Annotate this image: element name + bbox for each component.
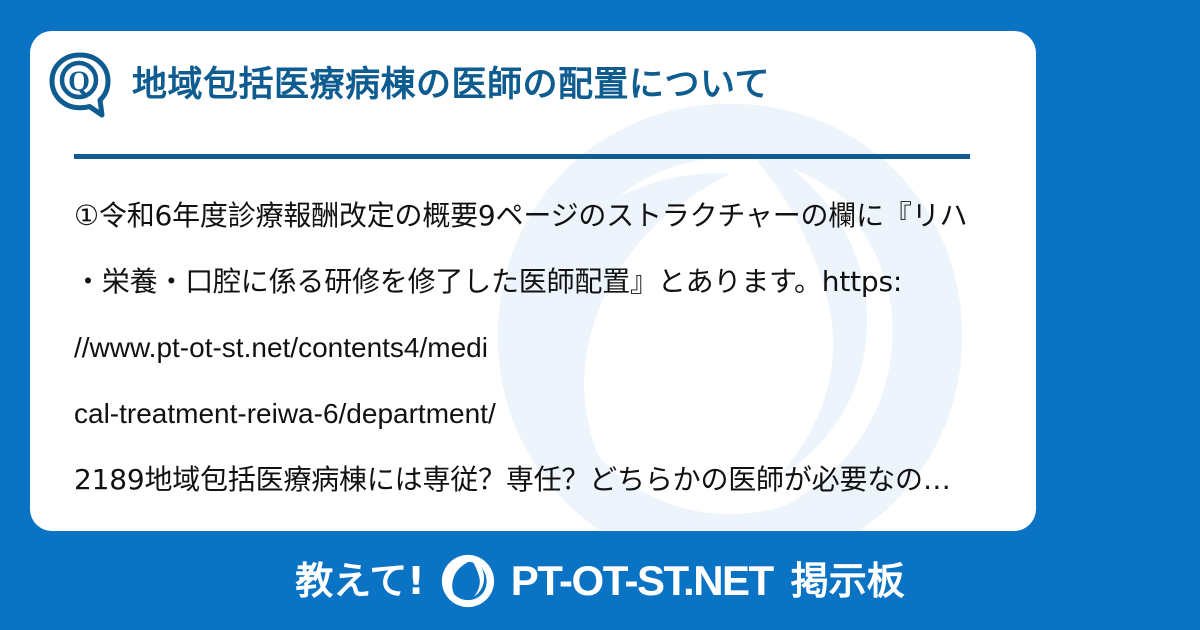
header-divider [74, 154, 970, 159]
card-header: Q 地域包括医療病棟の医師の配置について [44, 49, 1024, 121]
page-title: 地域包括医療病棟の医師の配置について [132, 66, 770, 105]
svg-text:Q: Q [68, 67, 90, 98]
question-speech-bubble-icon: Q [44, 49, 116, 121]
footer-brand-name: PT-OT-ST.NET [511, 560, 773, 602]
footer-pre-label: 教えて! [295, 562, 424, 600]
question-card: Q 地域包括医療病棟の医師の配置について ①令和6年度診療報酬改定の概要9ページ… [30, 31, 1036, 531]
pt-ot-st-swirl-logo-icon [439, 552, 497, 610]
body-line: 2189地域包括医療病棟には専従？専任？どちらかの医師が必要なの… [74, 447, 1014, 513]
footer-post-label: 掲示板 [791, 562, 905, 600]
site-footer-bar: 教えて! PT-OT-ST.NET 掲示板 [0, 531, 1200, 630]
body-line: ①令和6年度診療報酬改定の概要9ページのストラクチャーの欄に『リハ [74, 183, 1014, 249]
body-line: //www.pt-ot-st.net/contents4/medi [74, 315, 1014, 381]
question-body: ①令和6年度診療報酬改定の概要9ページのストラクチャーの欄に『リハ ・栄養・口腔… [74, 183, 1014, 513]
body-line: cal-treatment-reiwa-6/department/ [74, 381, 1014, 447]
og-image-canvas: Q 地域包括医療病棟の医師の配置について ①令和6年度診療報酬改定の概要9ページ… [0, 0, 1200, 630]
body-line: ・栄養・口腔に係る研修を修了した医師配置』とあります。https: [74, 249, 1014, 315]
